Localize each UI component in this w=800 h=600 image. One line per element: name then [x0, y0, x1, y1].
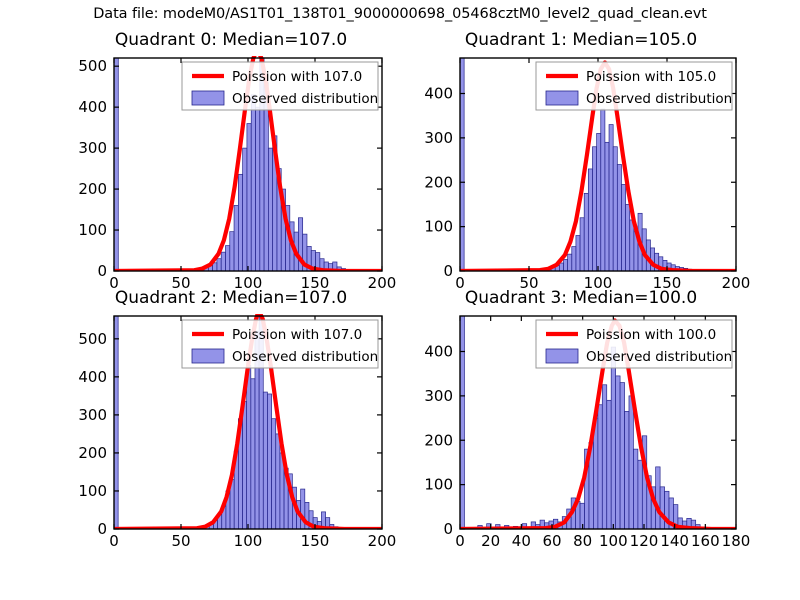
y-tick-label: 500 [78, 330, 107, 348]
y-tick-label: 300 [78, 406, 107, 424]
histogram-bar [251, 95, 255, 271]
histogram-bar [598, 405, 602, 529]
histogram-bar [243, 148, 247, 271]
histogram-bar [584, 193, 588, 271]
y-tick-label: 400 [78, 98, 107, 116]
histogram-bar [276, 434, 280, 529]
histogram-bar [601, 109, 605, 271]
y-tick-label: 500 [78, 57, 107, 75]
histogram-bar [607, 400, 611, 529]
histogram-bar [263, 392, 267, 529]
legend-label: Poission with 100.0 [586, 327, 716, 343]
y-tick-label: 300 [424, 129, 453, 147]
y-tick-label: 300 [424, 387, 453, 405]
subplot-title-quadrant-2: Quadrant 2: Median=107.0 [66, 288, 396, 308]
y-tick-label: 200 [424, 431, 453, 449]
plot-area-quadrant-2: 0501001502000100200300400500Poission wit… [66, 288, 396, 556]
x-tick-label: 60 [542, 532, 561, 550]
histogram-bar [230, 232, 234, 271]
x-tick-label: 120 [630, 532, 659, 550]
histogram-bar [621, 184, 625, 271]
subplot-quadrant-2: Quadrant 2: Median=107.0 050100150200010… [66, 288, 396, 556]
histogram-bar [564, 259, 568, 271]
x-tick-label: 80 [573, 532, 592, 550]
legend-label: Observed distribution [586, 349, 732, 365]
y-tick-label: 200 [78, 444, 107, 462]
histogram-bar [638, 460, 642, 529]
histogram-bar [238, 174, 242, 271]
y-tick-label: 100 [424, 218, 453, 236]
y-tick-label: 0 [97, 262, 107, 280]
legend-label: Observed distribution [232, 91, 378, 107]
x-tick-label: 100 [234, 532, 263, 550]
x-tick-label: 200 [368, 532, 397, 550]
x-tick-label: 140 [660, 532, 689, 550]
legend-label: Observed distribution [586, 91, 732, 107]
histogram-bar [660, 487, 664, 529]
histogram-bar [625, 411, 629, 529]
histogram-bar [626, 204, 630, 271]
legend: Poission with 107.0Observed distribution [182, 62, 378, 110]
x-tick-label: 20 [481, 532, 500, 550]
legend: Poission with 107.0Observed distribution [182, 320, 378, 368]
y-tick-label: 0 [97, 520, 107, 538]
histogram-bar [268, 148, 272, 271]
histogram-bar [572, 247, 576, 271]
subplot-title-quadrant-1: Quadrant 1: Median=105.0 [412, 30, 750, 50]
y-tick-label: 0 [443, 262, 453, 280]
x-tick-label: 0 [109, 532, 119, 550]
histogram-bar [592, 147, 596, 271]
histogram-bar [243, 402, 247, 529]
histogram-bar [217, 259, 221, 271]
histogram-bar [559, 263, 563, 271]
y-tick-label: 0 [443, 520, 453, 538]
y-tick-label: 100 [78, 221, 107, 239]
legend: Poission with 105.0Observed distribution [536, 62, 732, 110]
histogram-bar [580, 218, 584, 271]
x-tick-label: 160 [691, 532, 720, 550]
legend-patch-swatch [192, 91, 224, 105]
x-tick-label: 50 [171, 532, 190, 550]
histogram-bar [576, 236, 580, 272]
x-tick-label: 180 [722, 532, 751, 550]
subplot-quadrant-0: Quadrant 0: Median=107.0 050100150200010… [66, 30, 396, 292]
histogram-bar [251, 379, 255, 529]
y-tick-label: 400 [78, 368, 107, 386]
legend-label: Observed distribution [232, 349, 378, 365]
histogram-bar [620, 383, 624, 529]
legend: Poission with 100.0Observed distribution [536, 320, 732, 368]
histogram-bar [630, 220, 634, 271]
y-tick-label: 200 [424, 173, 453, 191]
y-tick-label: 300 [78, 139, 107, 157]
subplot-title-quadrant-3: Quadrant 3: Median=100.0 [412, 288, 750, 308]
x-tick-label: 150 [301, 532, 330, 550]
legend-patch-swatch [192, 349, 224, 363]
histogram-bar [267, 394, 271, 529]
histogram-bar [617, 165, 621, 272]
histogram-bar [247, 124, 251, 271]
figure-suptitle: Data file: modeM0/AS1T01_138T01_90000006… [0, 6, 800, 22]
histogram-bar [629, 396, 633, 529]
legend-patch-swatch [546, 91, 578, 105]
histogram-bar [272, 419, 276, 529]
histogram-bar [568, 254, 572, 271]
subplot-title-quadrant-0: Quadrant 0: Median=107.0 [66, 30, 396, 50]
histogram-bar [264, 83, 268, 271]
legend-patch-swatch [546, 349, 578, 363]
histogram-bar [656, 467, 660, 529]
legend-label: Poission with 107.0 [232, 327, 362, 343]
plot-area-quadrant-0: 0501001502000100200300400500Poission wit… [66, 30, 396, 292]
histogram-bar [605, 142, 609, 271]
plot-area-quadrant-3: 0204060801001201401601800100200300400Poi… [412, 288, 750, 556]
y-tick-label: 200 [78, 180, 107, 198]
histogram-bar [225, 246, 229, 271]
histogram-bar [588, 169, 592, 271]
subplot-quadrant-1: Quadrant 1: Median=105.0 050100150200010… [412, 30, 750, 292]
histogram-bar [609, 125, 613, 271]
histogram-bar [611, 347, 615, 529]
y-tick-label: 100 [424, 476, 453, 494]
histogram-bar [221, 252, 225, 271]
histogram-bar [256, 107, 260, 271]
y-tick-label: 400 [424, 343, 453, 361]
y-tick-label: 400 [424, 85, 453, 103]
histogram-bar [597, 133, 601, 271]
x-tick-label: 0 [455, 532, 465, 550]
legend-label: Poission with 105.0 [586, 69, 716, 85]
plot-area-quadrant-1: 0501001502000100200300400Poission with 1… [412, 30, 750, 292]
y-tick-label: 100 [78, 482, 107, 500]
x-tick-label: 100 [599, 532, 628, 550]
histogram-bar [247, 365, 251, 529]
histogram-bar [234, 205, 238, 271]
x-tick-label: 40 [512, 532, 531, 550]
legend-label: Poission with 107.0 [232, 69, 362, 85]
histogram-bar [616, 376, 620, 529]
histogram-bar [602, 385, 606, 529]
histogram-bar [613, 147, 617, 271]
subplot-quadrant-3: Quadrant 3: Median=100.0 020406080100120… [412, 288, 750, 556]
matplotlib-figure: Data file: modeM0/AS1T01_138T01_90000006… [0, 0, 800, 600]
histogram-bar [633, 449, 637, 529]
